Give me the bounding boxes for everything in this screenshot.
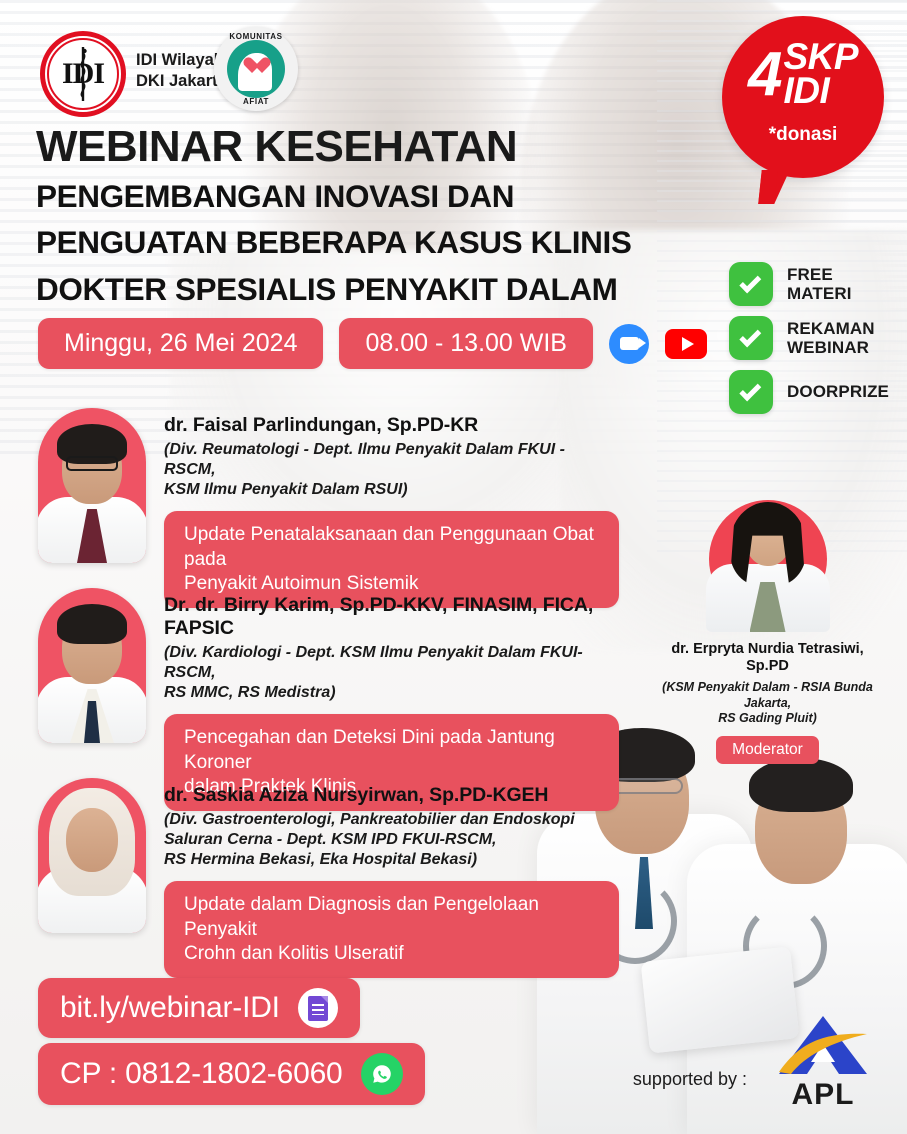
- moderator-affiliation: (KSM Penyakit Dalam - RSIA Bunda Jakarta…: [660, 680, 875, 727]
- webinar-poster: IDI IDI Wilayah DKI Jakarta KOMUNITAS AF…: [0, 0, 907, 1134]
- apl-mountain-icon: [777, 1014, 869, 1076]
- skp-number: 4: [748, 48, 780, 101]
- speaker-3-name: dr. Saskia Aziza Nursyirwan, Sp.PD-KGEH: [164, 784, 619, 807]
- benefit-label-line-1: REKAMAN: [787, 319, 875, 338]
- youtube-play-glyph: [682, 337, 694, 351]
- google-form-doc-glyph: [308, 996, 328, 1021]
- whatsapp-icon[interactable]: [361, 1053, 403, 1095]
- event-date-badge: Minggu, 26 Mei 2024: [38, 318, 323, 369]
- sponsor-section: supported by : APL: [633, 1012, 883, 1112]
- benefit-label-line-2: MATERI: [787, 284, 852, 303]
- heart-icon: [252, 58, 271, 77]
- skp-credit-badge: 4 SKP IDI *donasi: [722, 16, 884, 178]
- contact-pill[interactable]: CP : 0812-1802-6060: [38, 1043, 425, 1105]
- speaker-3-avatar: [38, 778, 146, 933]
- zoom-icon[interactable]: [609, 324, 649, 364]
- speaker-2-affiliation: (Div. Kardiologi - Dept. KSM Ilmu Penyak…: [164, 643, 619, 703]
- speaker-1-affiliation-line-1: (Div. Reumatologi - Dept. Ilmu Penyakit …: [164, 440, 619, 480]
- idi-logo: IDI: [40, 31, 126, 117]
- check-icon: [729, 262, 773, 306]
- speaker-2-name: Dr. dr. Birry Karim, Sp.PD-KKV, FINASIM,…: [164, 594, 619, 640]
- contact-cta[interactable]: CP : 0812-1802-6060: [38, 1043, 425, 1105]
- google-form-lines-glyph: [312, 1004, 324, 1015]
- speaker-1-name: dr. Faisal Parlindungan, Sp.PD-KR: [164, 414, 619, 437]
- check-icon: [729, 316, 773, 360]
- speaker-2-name-line-1: Dr. dr. Birry Karim, Sp.PD-KKV, FINASIM,…: [164, 594, 619, 617]
- speaker-2-topic-line-1: Pencegahan dan Deteksi Dini pada Jantung…: [184, 726, 599, 775]
- speaker-3-affiliation-line-1: (Div. Gastroenterologi, Pankreatobilier …: [164, 810, 619, 830]
- speaker-1-affiliation: (Div. Reumatologi - Dept. Ilmu Penyakit …: [164, 440, 619, 500]
- skp-badge-row: 4 SKP IDI: [722, 40, 884, 109]
- speaker-card-1: dr. Faisal Parlindungan, Sp.PD-KR (Div. …: [38, 408, 619, 608]
- schedule-row: Minggu, 26 Mei 2024 08.00 - 13.00 WIB: [38, 318, 707, 369]
- zoom-camera-glyph: [620, 337, 639, 350]
- speaker-3-affiliation-line-2: Saluran Cerna - Dept. KSM IPD FKUI-RSCM,: [164, 830, 619, 850]
- speaker-2-name-line-2: FAPSIC: [164, 617, 619, 640]
- speech-bubble-tail: [758, 170, 790, 204]
- moderator-affiliation-line-1: (KSM Penyakit Dalam - RSIA Bunda Jakarta…: [660, 680, 875, 712]
- doctor-female-hair: [749, 758, 853, 812]
- speaker-2-affiliation-line-2: RS MMC, RS Medistra): [164, 683, 619, 703]
- speaker-2-hair: [57, 604, 127, 644]
- afiat-logo-bottom-text: AFIAT: [214, 97, 298, 106]
- speaker-3-affiliation-line-3: RS Hermina Bekasi, Eka Hospital Bekasi): [164, 850, 619, 870]
- benefit-item-rekaman-webinar: REKAMAN WEBINAR: [729, 316, 889, 360]
- headline-sub-line-3: DOKTER SPESIALIS PENYAKIT DALAM: [36, 269, 631, 309]
- registration-link-text[interactable]: bit.ly/webinar-IDI: [60, 991, 280, 1025]
- moderator-photo: [693, 492, 843, 632]
- moderator-card: dr. Erpryta Nurdia Tetrasiwi, Sp.PD (KSM…: [660, 492, 875, 764]
- speaker-2-affiliation-line-1: (Div. Kardiologi - Dept. KSM Ilmu Penyak…: [164, 643, 619, 683]
- speaker-3-topic-line-2: Crohn dan Kolitis Ulseratif: [184, 942, 599, 966]
- asclepius-rod-icon: [77, 45, 89, 103]
- speaker-card-3: dr. Saskia Aziza Nursyirwan, Sp.PD-KGEH …: [38, 778, 619, 978]
- speaker-3-affiliation: (Div. Gastroenterologi, Pankreatobilier …: [164, 810, 619, 870]
- benefit-item-free-materi: FREE MATERI: [729, 262, 889, 306]
- whatsapp-glyph: [370, 1062, 394, 1086]
- skp-label: SKP: [783, 40, 858, 74]
- speaker-3-details: dr. Saskia Aziza Nursyirwan, Sp.PD-KGEH …: [164, 778, 619, 978]
- headline-main: WEBINAR KESEHATAN: [36, 125, 631, 170]
- contact-number-text[interactable]: CP : 0812-1802-6060: [60, 1057, 343, 1091]
- apl-logo: APL: [763, 1012, 883, 1112]
- sponsor-label: supported by :: [633, 1069, 747, 1112]
- benefit-label-wrap: FREE MATERI: [787, 265, 852, 303]
- apl-logo-text: APL: [763, 1078, 883, 1112]
- google-form-icon[interactable]: [298, 988, 338, 1028]
- benefit-label-wrap: REKAMAN WEBINAR: [787, 319, 875, 357]
- skp-label-stack: SKP IDI: [783, 40, 858, 109]
- benefit-label-line-2: WEBINAR: [787, 338, 875, 357]
- speaker-3-face: [66, 808, 118, 872]
- registration-cta[interactable]: bit.ly/webinar-IDI: [38, 978, 360, 1038]
- speaker-1-topic-line-1: Update Penatalaksanaan dan Penggunaan Ob…: [184, 523, 599, 572]
- moderator-role-badge: Moderator: [716, 736, 819, 764]
- komunitas-afiat-logo: KOMUNITAS AFIAT: [214, 27, 298, 111]
- headline-sub-line-2: PENGUATAN BEBERAPA KASUS KLINIS: [36, 222, 631, 262]
- benefits-list: FREE MATERI REKAMAN WEBINAR DOORPRIZE: [729, 262, 889, 414]
- skp-issuer-label: IDI: [783, 74, 858, 108]
- benefit-label-wrap: DOORPRIZE: [787, 382, 889, 401]
- speaker-3-topic-line-1: Update dalam Diagnosis dan Pengelolaan P…: [184, 893, 599, 942]
- speaker-1-details: dr. Faisal Parlindungan, Sp.PD-KR (Div. …: [164, 408, 619, 608]
- benefit-label-line-1: DOORPRIZE: [787, 382, 889, 401]
- speaker-1-avatar: [38, 408, 146, 563]
- headline-sub-line-1: PENGEMBANGAN INOVASI DAN: [36, 176, 631, 216]
- registration-link-pill[interactable]: bit.ly/webinar-IDI: [38, 978, 360, 1038]
- poster-headline: WEBINAR KESEHATAN PENGEMBANGAN INOVASI D…: [36, 125, 631, 309]
- benefit-item-doorprize: DOORPRIZE: [729, 370, 889, 414]
- event-time-badge: 08.00 - 13.00 WIB: [339, 318, 593, 369]
- speaker-3-topic: Update dalam Diagnosis dan Pengelolaan P…: [164, 881, 619, 978]
- skp-donation-note: *donasi: [722, 124, 884, 146]
- youtube-icon[interactable]: [665, 329, 707, 359]
- speaker-2-avatar: [38, 588, 146, 743]
- moderator-affiliation-line-2: RS Gading Pluit): [660, 711, 875, 727]
- eyeglasses-icon: [66, 456, 118, 471]
- check-icon: [729, 370, 773, 414]
- speaker-1-affiliation-line-2: KSM Ilmu Penyakit Dalam RSUI): [164, 480, 619, 500]
- moderator-name: dr. Erpryta Nurdia Tetrasiwi, Sp.PD: [660, 641, 875, 676]
- benefit-label-line-1: FREE: [787, 265, 852, 284]
